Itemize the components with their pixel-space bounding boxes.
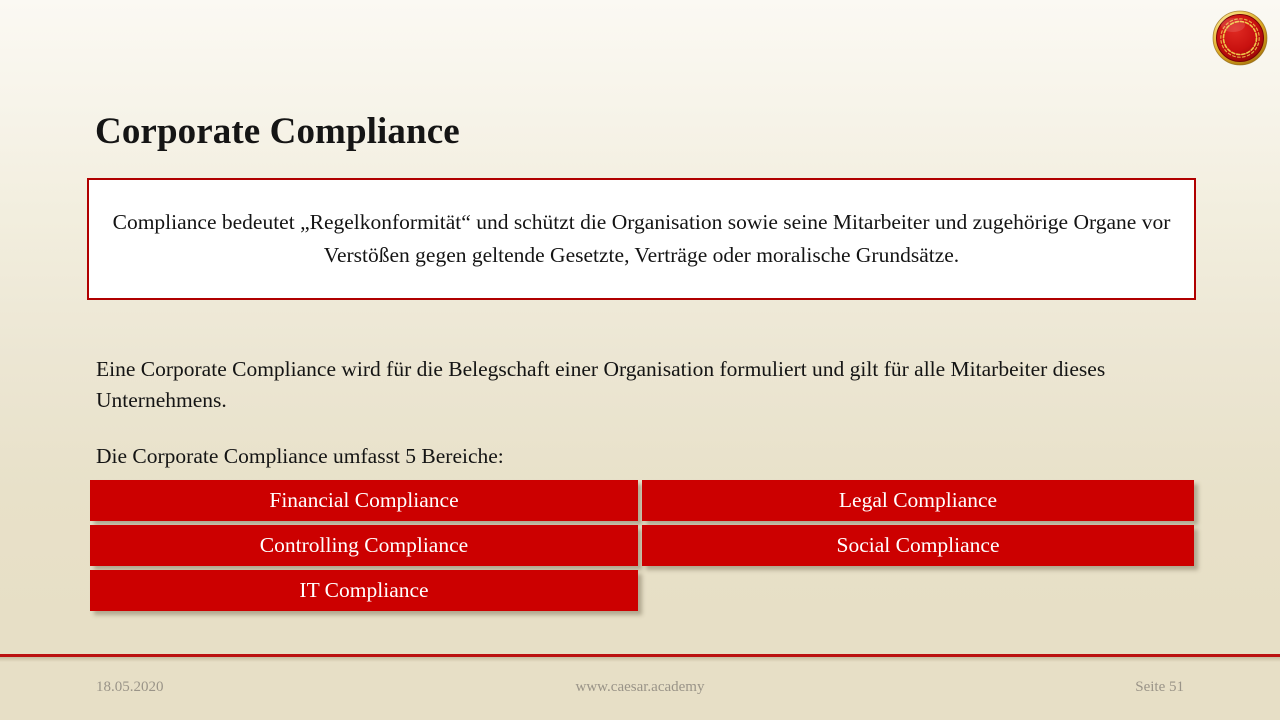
area-box-financial-compliance[interactable]: Financial Compliance xyxy=(90,480,638,521)
compliance-areas-right-column: Legal Compliance Social Compliance xyxy=(642,480,1194,570)
footer-page-number: Seite 51 xyxy=(0,678,1184,697)
area-box-social-compliance[interactable]: Social Compliance xyxy=(642,525,1194,566)
definition-callout-box: Compliance bedeutet „Regelkonformität“ u… xyxy=(87,178,1196,300)
definition-text: Compliance bedeutet „Regelkonformität“ u… xyxy=(89,206,1194,272)
seal-logo-icon xyxy=(1210,8,1270,68)
area-box-legal-compliance[interactable]: Legal Compliance xyxy=(642,480,1194,521)
page-title: Corporate Compliance xyxy=(95,109,460,154)
compliance-areas-left-column: Financial Compliance Controlling Complia… xyxy=(90,480,638,615)
body-paragraph-2: Die Corporate Compliance umfasst 5 Berei… xyxy=(96,441,1166,472)
area-box-it-compliance[interactable]: IT Compliance xyxy=(90,570,638,611)
caesar-academy-seal-logo xyxy=(1210,8,1270,68)
area-box-controlling-compliance[interactable]: Controlling Compliance xyxy=(90,525,638,566)
body-paragraph-1: Eine Corporate Compliance wird für die B… xyxy=(96,354,1166,416)
slide-canvas: Corporate Compliance Compliance bedeutet… xyxy=(0,0,1280,720)
footer-divider-shadow xyxy=(0,657,1280,662)
